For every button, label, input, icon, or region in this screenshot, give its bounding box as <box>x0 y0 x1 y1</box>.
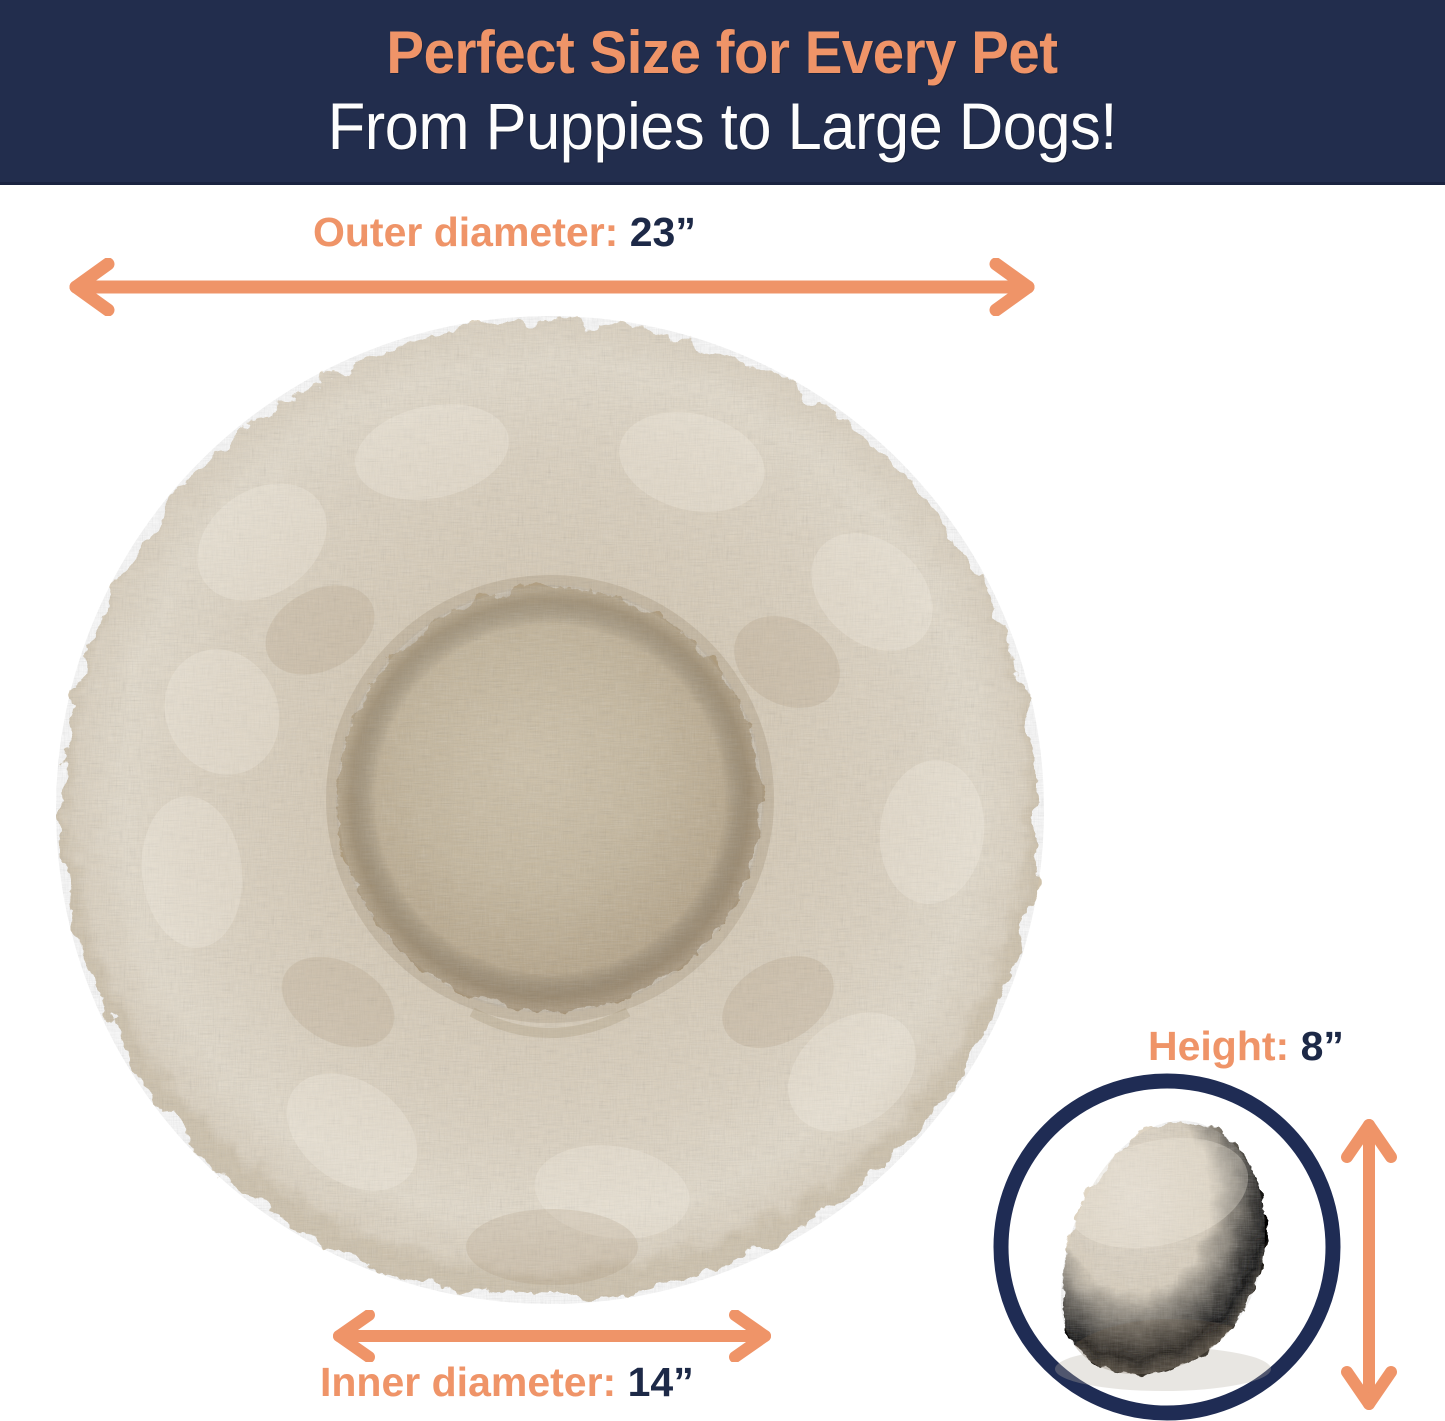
height-label: Height: 8” <box>1148 1026 1344 1067</box>
banner-subtitle: From Puppies to Large Dogs! <box>328 93 1117 159</box>
height-label-text: Height: <box>1148 1023 1289 1069</box>
inner-diameter-label-text: Inner diameter: <box>320 1359 616 1405</box>
outer-diameter-label-text: Outer diameter: <box>313 209 618 255</box>
outer-diameter-label: Outer diameter: 23” <box>313 212 696 253</box>
inner-diameter-value: 14” <box>628 1359 694 1405</box>
outer-diameter-value: 23” <box>630 209 696 255</box>
pet-bed-side-view-inset <box>993 1073 1341 1421</box>
banner-title: Perfect Size for Every Pet <box>387 23 1058 83</box>
outer-diameter-arrow-icon <box>62 258 1042 316</box>
height-arrow-icon <box>1336 1112 1402 1417</box>
height-value: 8” <box>1301 1023 1344 1069</box>
pet-bed-top-view-image <box>52 312 1048 1308</box>
header-banner: Perfect Size for Every Pet From Puppies … <box>0 0 1445 185</box>
infographic-canvas: Perfect Size for Every Pet From Puppies … <box>0 0 1445 1421</box>
inner-diameter-arrow-icon <box>326 1310 778 1362</box>
inner-diameter-label: Inner diameter: 14” <box>320 1362 694 1403</box>
